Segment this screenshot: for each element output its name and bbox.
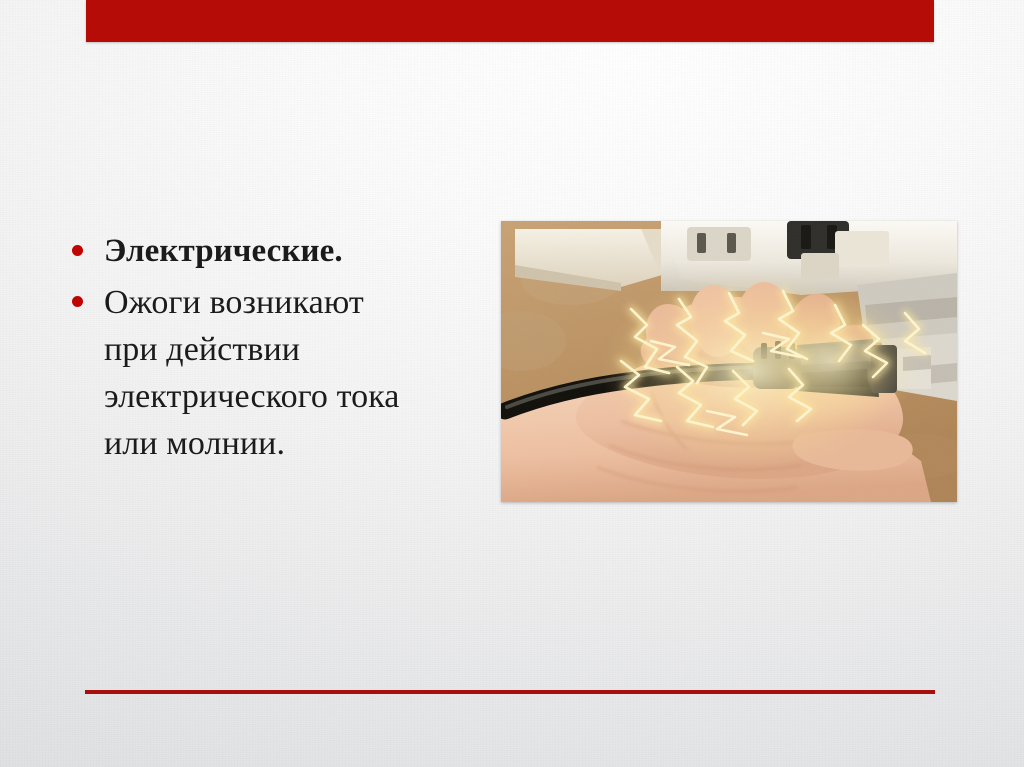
list-item: Электрические. (72, 228, 482, 275)
bullet-line: или молнии. (104, 420, 482, 467)
list-item: Ожоги возникают при действии электрическ… (72, 279, 482, 467)
bullet-line: Электрические. (104, 228, 482, 275)
slide-photo (501, 221, 957, 502)
bullet-text-1: Электрические. (104, 228, 482, 275)
bullet-line: Ожоги возникают (104, 279, 482, 326)
photo-illustration (501, 221, 957, 502)
bullet-dot-icon (72, 245, 83, 256)
bullet-line: при действии (104, 326, 482, 373)
top-red-banner (86, 0, 934, 42)
bullet-text-2: Ожоги возникают при действии электрическ… (104, 279, 482, 467)
bullet-line: электрического тока (104, 373, 482, 420)
bottom-red-rule (85, 690, 935, 694)
bullet-dot-icon (72, 296, 83, 307)
bullet-list: Электрические. Ожоги возникают при дейст… (72, 228, 482, 471)
slide-canvas: Электрические. Ожоги возникают при дейст… (0, 0, 1024, 767)
